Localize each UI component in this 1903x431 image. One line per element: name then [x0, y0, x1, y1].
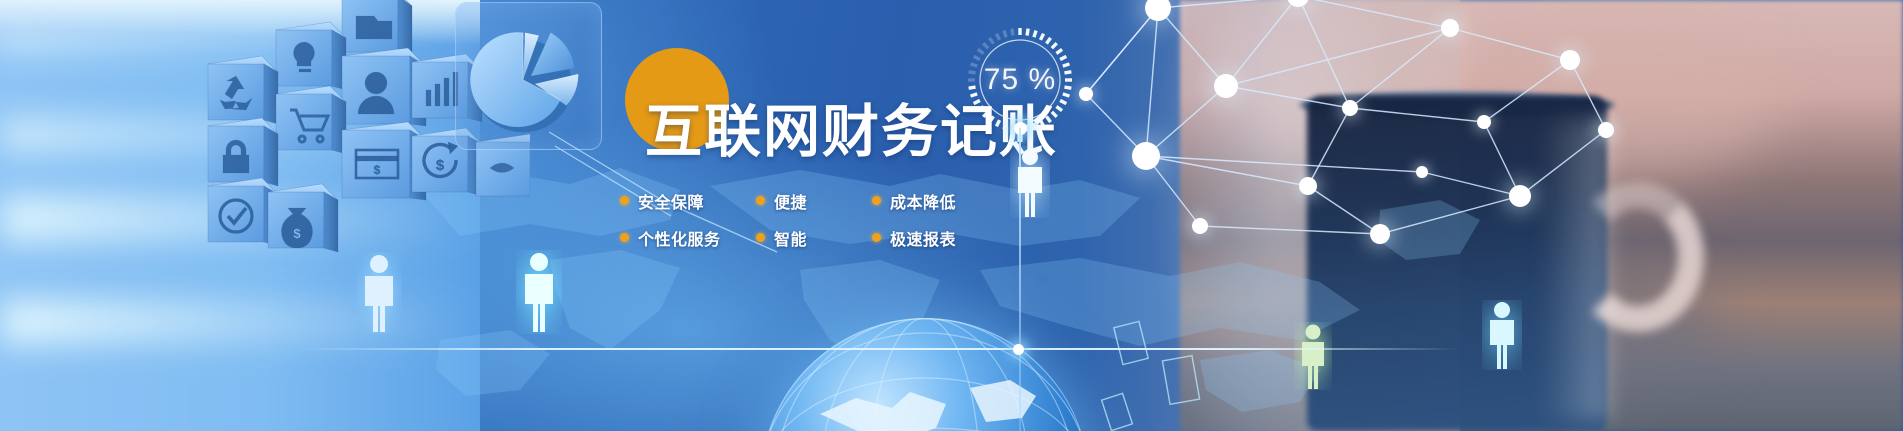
feature-row-1: 安全保障 便捷 成本降低: [620, 182, 1000, 219]
network-nodes: [1079, 0, 1614, 244]
person-figure-1: [356, 252, 402, 334]
feature-item-5[interactable]: 极速报表: [872, 226, 956, 250]
person-figure-3: [1010, 146, 1050, 218]
bullet-dot-icon: [620, 233, 629, 242]
feature-item-2[interactable]: 成本降低: [872, 189, 956, 213]
bullet-dot-icon: [620, 196, 629, 205]
feature-list: 安全保障 便捷 成本降低 个性化服务 智能 极速报表: [620, 182, 1000, 431]
feature-label: 个性化服务: [638, 226, 721, 250]
feature-item-3[interactable]: 个性化服务: [620, 226, 756, 250]
feature-row-2: 个性化服务 智能 极速报表: [620, 219, 1000, 256]
person-figure-5: [1482, 300, 1522, 370]
network-mesh: [1050, 0, 1610, 240]
baseline-node: [1013, 344, 1024, 355]
bullet-dot-icon: [872, 196, 881, 205]
feature-label: 极速报表: [890, 226, 956, 250]
feature-label: 便捷: [774, 189, 807, 213]
marketing-banner: $ $: [0, 0, 1903, 431]
bullet-dot-icon: [872, 233, 881, 242]
feature-label: 成本降低: [890, 189, 956, 213]
feature-item-0[interactable]: 安全保障: [620, 189, 756, 213]
feature-label: 智能: [774, 226, 807, 250]
feature-label: 安全保障: [638, 189, 704, 213]
svg-text:$: $: [374, 163, 381, 177]
pie-chart-panel: [455, 2, 602, 150]
bullet-dot-icon: [756, 233, 765, 242]
person-figure-2: [516, 250, 562, 334]
baseline-light-line: [300, 348, 1460, 350]
feature-item-4[interactable]: 智能: [756, 226, 872, 250]
svg-text:$: $: [436, 157, 445, 174]
svg-text:$: $: [293, 226, 301, 241]
feature-item-1[interactable]: 便捷: [756, 189, 872, 213]
bullet-dot-icon: [756, 196, 765, 205]
floating-rectangles: [1100, 300, 1320, 431]
